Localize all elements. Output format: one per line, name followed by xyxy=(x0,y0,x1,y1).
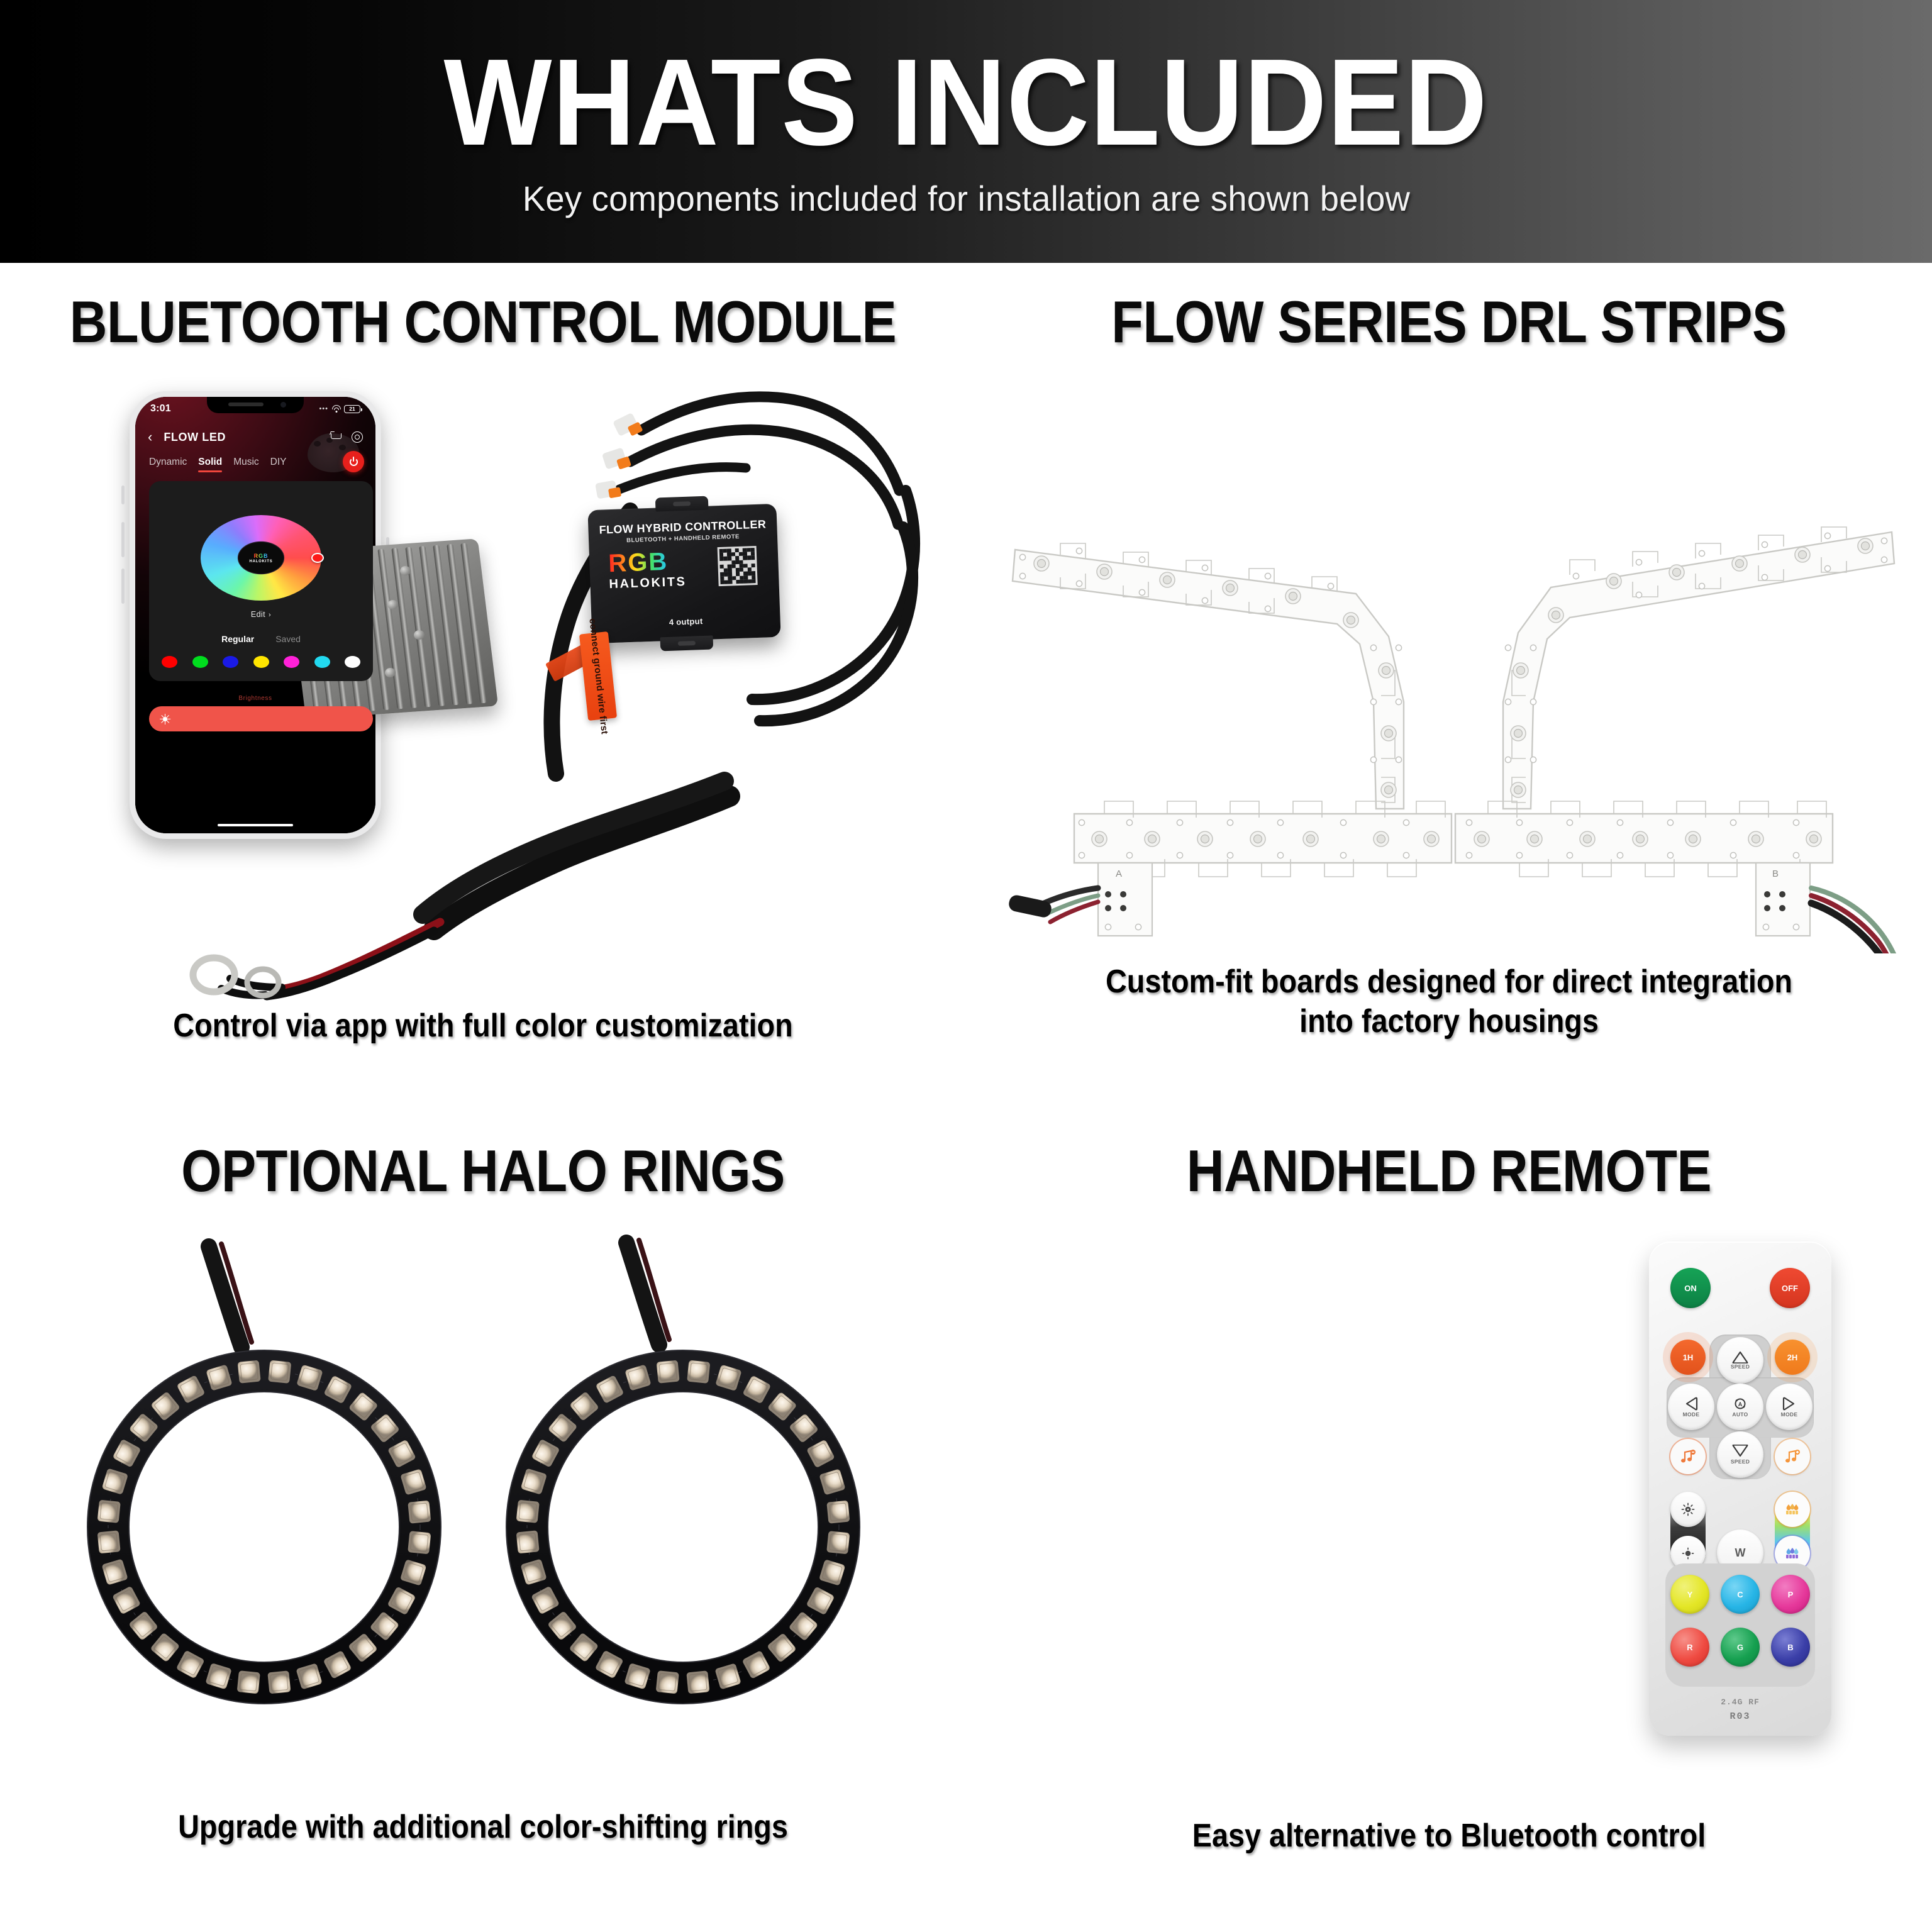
music-minus-icon xyxy=(1680,1449,1696,1464)
cool-drops-icon xyxy=(1784,1546,1801,1560)
remote-music-down-button[interactable] xyxy=(1670,1439,1706,1474)
bluetooth-module-stage: 3:01 ••• 21 ‹ FL xyxy=(0,356,966,1004)
rgb-logo-text: RGB xyxy=(254,553,269,559)
triangle-right-icon xyxy=(1782,1396,1797,1410)
controller-mount-tab xyxy=(660,635,714,651)
color-wheel[interactable]: RGB HALOKITS xyxy=(201,515,321,601)
battery-icon: 21 xyxy=(344,405,360,413)
battery-level: 21 xyxy=(349,406,355,412)
caption-drl-line2: into factory housings xyxy=(1014,1002,1884,1041)
infographic-page: WHATS INCLUDED Key components included f… xyxy=(0,0,1932,1932)
tab-music[interactable]: Music xyxy=(233,457,258,472)
drl-upper-right-arm xyxy=(1503,527,1894,809)
remote-y-label: Y xyxy=(1687,1590,1693,1599)
remote-g-label: G xyxy=(1737,1643,1743,1652)
status-dots: ••• xyxy=(319,405,328,413)
status-time: 3:01 xyxy=(150,403,171,414)
warm-drops-icon xyxy=(1784,1502,1801,1516)
section-title-drl: FLOW SERIES DRL STRIPS xyxy=(1024,263,1874,356)
preset-tabs: Regular Saved xyxy=(149,634,373,644)
halo-rings-stage xyxy=(0,1205,966,1840)
remote-timer-1h-button[interactable]: 1H xyxy=(1670,1340,1706,1375)
remote-white-label: W xyxy=(1735,1546,1746,1560)
tab-regular[interactable]: Regular xyxy=(221,634,254,644)
section-handheld-remote: HANDHELD REMOTE ON OFF 1H xyxy=(966,1118,1932,1932)
remote-mode-right-button[interactable]: MODE xyxy=(1766,1384,1813,1430)
swatch-magenta[interactable] xyxy=(284,656,299,668)
remote-off-label: OFF xyxy=(1782,1284,1798,1293)
drl-strips-stage: A xyxy=(966,356,1932,991)
wifi-icon xyxy=(331,405,341,413)
remote-brightness-up-button[interactable] xyxy=(1670,1492,1706,1527)
edit-link[interactable]: Edit› xyxy=(149,610,373,619)
brightness-label: Brightness xyxy=(135,695,375,702)
tab-solid[interactable]: Solid xyxy=(198,457,222,472)
triangle-left-icon xyxy=(1684,1396,1699,1410)
app-title: FLOW LED xyxy=(164,431,226,444)
chevron-right-icon: › xyxy=(269,611,271,619)
section-title-halo: OPTIONAL HALO RINGS xyxy=(58,1118,908,1205)
halo-ring-right xyxy=(506,1350,860,1704)
remote-speed-down-label: SPEED xyxy=(1731,1458,1750,1465)
qr-code-grid xyxy=(719,548,756,584)
remote-timer-2h-button[interactable]: 2H xyxy=(1775,1340,1810,1375)
caption-bluetooth: Control via app with full color customiz… xyxy=(48,1006,918,1046)
remote-color-y-button[interactable]: Y xyxy=(1670,1575,1709,1614)
remote-color-g-button[interactable]: G xyxy=(1721,1628,1760,1667)
remote-b-label: B xyxy=(1787,1643,1793,1652)
mode-tabs: Dynamic Solid Music DIY xyxy=(135,452,375,476)
remote-mode-left-label: MODE xyxy=(1683,1411,1700,1418)
drl-connector-a-label: A xyxy=(1116,869,1122,879)
remote-r-label: R xyxy=(1687,1643,1692,1652)
status-indicators: ••• 21 xyxy=(319,405,360,413)
swatch-cyan[interactable] xyxy=(314,656,330,668)
swatch-red[interactable] xyxy=(162,656,177,668)
remote-on-label: ON xyxy=(1684,1284,1697,1293)
controller-output-label: 4 output xyxy=(591,614,780,630)
auto-loop-icon: A xyxy=(1733,1396,1748,1410)
remote-mode-right-label: MODE xyxy=(1781,1411,1798,1418)
color-picker-card: RGB HALOKITS Edit› Regular Saved xyxy=(149,481,373,681)
halo-ring-pair xyxy=(0,1205,966,1840)
chevron-left-icon[interactable]: ‹ xyxy=(148,430,152,444)
drl-connector-b-label: B xyxy=(1772,869,1779,879)
brightness-slider[interactable] xyxy=(149,706,373,731)
wiring-harness xyxy=(0,356,966,1211)
remote-p-label: P xyxy=(1788,1590,1794,1599)
swatch-blue[interactable] xyxy=(223,656,238,668)
sun-dim-icon xyxy=(1681,1546,1695,1560)
section-title-remote: HANDHELD REMOTE xyxy=(1024,1118,1874,1205)
app-navbar: ‹ FLOW LED xyxy=(135,425,375,450)
navbar-icons xyxy=(330,431,363,443)
remote-off-button[interactable]: OFF xyxy=(1770,1268,1810,1308)
remote-warm-button[interactable] xyxy=(1775,1492,1810,1527)
caption-remote: Easy alternative to Bluetooth control xyxy=(1014,1816,1884,1856)
remote-2h-label: 2H xyxy=(1787,1353,1798,1362)
remote-speed-up-button[interactable]: SPEED xyxy=(1717,1337,1763,1384)
qr-code-icon xyxy=(718,546,758,586)
status-bar: 3:01 ••• 21 xyxy=(135,401,375,417)
drl-lower-right-bar: B xyxy=(1455,801,1833,936)
section-optional-halo-rings: OPTIONAL HALO RINGS xyxy=(0,1118,966,1932)
content-grid: BLUETOOTH CONTROL MODULE xyxy=(0,263,1932,1932)
color-swatch-row xyxy=(162,656,360,668)
caption-drl-line1: Custom-fit boards designed for direct in… xyxy=(1014,962,1884,1002)
remote-music-up-button[interactable] xyxy=(1775,1439,1810,1474)
swatch-white[interactable] xyxy=(345,656,360,668)
halokits-logo-text: HALOKITS xyxy=(609,575,687,592)
controller-mount-tab xyxy=(655,496,709,512)
color-wheel-center-logo: RGB HALOKITS xyxy=(238,541,284,574)
page-title: WHATS INCLUDED xyxy=(444,44,1488,161)
warning-tag-text: connect ground wire first xyxy=(587,618,609,735)
triangle-up-icon xyxy=(1733,1352,1747,1362)
power-icon xyxy=(350,458,358,466)
swatch-green[interactable] xyxy=(192,656,208,668)
cart-icon[interactable] xyxy=(330,431,341,443)
remote-c-label: C xyxy=(1737,1590,1743,1599)
music-plus-icon xyxy=(1784,1449,1801,1464)
remote-model-label: R03 xyxy=(1649,1711,1831,1722)
caption-halo: Upgrade with additional color-shifting r… xyxy=(48,1807,918,1847)
halo-ring-left xyxy=(87,1350,441,1704)
drl-upper-left-arm xyxy=(1013,543,1404,809)
tab-diy[interactable]: DIY xyxy=(270,457,287,472)
sun-icon xyxy=(160,714,170,724)
remote-color-b-button[interactable]: B xyxy=(1771,1628,1810,1667)
remote-color-c-button[interactable]: C xyxy=(1721,1575,1760,1614)
section-flow-series-drl-strips: FLOW SERIES DRL STRIPS xyxy=(966,263,1932,1118)
gear-icon[interactable] xyxy=(352,431,363,443)
remote-color-r-button[interactable]: R xyxy=(1670,1628,1709,1667)
handheld-remote-stage: ON OFF 1H 2H xyxy=(966,1205,1932,1865)
remote-auto-label: AUTO xyxy=(1732,1411,1748,1418)
tab-dynamic[interactable]: Dynamic xyxy=(149,457,187,472)
remote-on-button[interactable]: ON xyxy=(1670,1268,1711,1308)
sun-bright-icon xyxy=(1681,1502,1695,1516)
halokits-logo-text: HALOKITS xyxy=(249,560,272,563)
remote-speed-up-label: SPEED xyxy=(1731,1363,1750,1370)
remote-color-p-button[interactable]: P xyxy=(1771,1575,1810,1614)
color-wheel-handle[interactable] xyxy=(311,553,324,563)
edit-label: Edit xyxy=(251,610,265,619)
home-indicator xyxy=(218,824,293,826)
tab-saved[interactable]: Saved xyxy=(275,634,301,644)
flow-hybrid-controller: FLOW HYBRID CONTROLLER BLUETOOTH + HANDH… xyxy=(587,504,780,643)
drl-strip-boards: A xyxy=(1004,513,1903,953)
remote-mode-left-button[interactable]: MODE xyxy=(1668,1384,1714,1430)
remote-auto-button[interactable]: A AUTO xyxy=(1717,1384,1763,1430)
drl-lower-left-bar: A xyxy=(1074,801,1452,936)
page-header: WHATS INCLUDED Key components included f… xyxy=(0,0,1932,263)
triangle-down-icon xyxy=(1732,1445,1748,1457)
remote-speed-down-button[interactable]: SPEED xyxy=(1717,1431,1763,1478)
rgb-logo-text: RGB xyxy=(608,548,686,576)
remote-rf-brand: 2.4G RF xyxy=(1649,1697,1831,1707)
controller-logo: RGB HALOKITS xyxy=(608,548,687,592)
page-subtitle: Key components included for installation… xyxy=(522,178,1409,219)
svg-text:A: A xyxy=(1738,1401,1743,1407)
section-title-bluetooth: BLUETOOTH CONTROL MODULE xyxy=(58,263,908,356)
swatch-yellow[interactable] xyxy=(253,656,269,668)
section-bluetooth-control-module: BLUETOOTH CONTROL MODULE xyxy=(0,263,966,1118)
remote-1h-label: 1H xyxy=(1683,1353,1694,1362)
caption-drl: Custom-fit boards designed for direct in… xyxy=(1014,962,1884,1042)
remote-body: ON OFF 1H 2H xyxy=(1649,1241,1831,1736)
power-button[interactable] xyxy=(343,451,364,472)
